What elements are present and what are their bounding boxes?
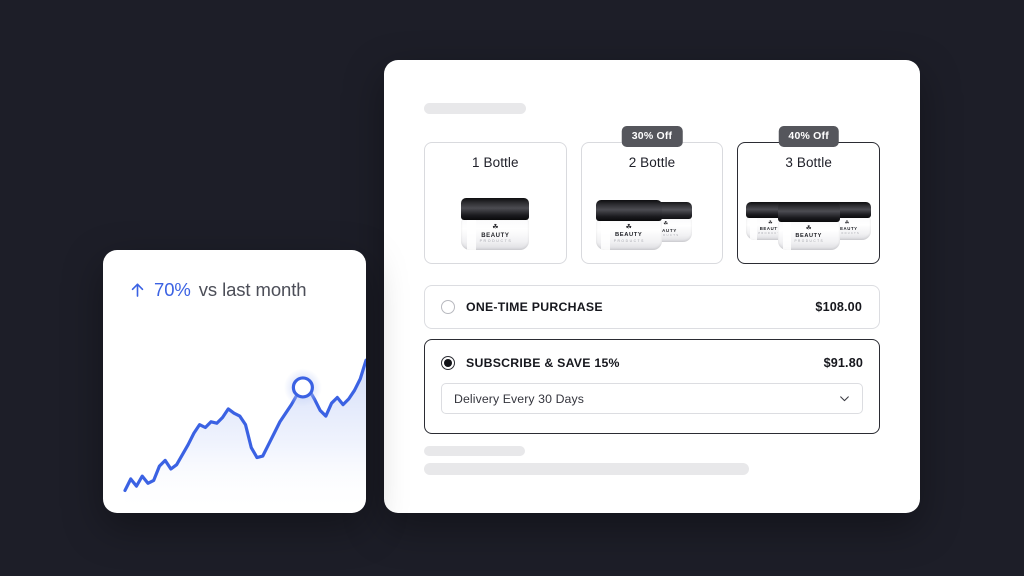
- bottle-option-2[interactable]: 30% Off 2 Bottle ☘ BEAUTY P R O D U C T …: [581, 142, 724, 264]
- purchase-option-label: ONE-TIME PURCHASE: [466, 300, 815, 314]
- bottle-option-title: 3 Bottle: [785, 155, 832, 170]
- delivery-frequency-select[interactable]: Delivery Every 30 Days: [441, 383, 863, 414]
- screen: 1 Bottle ☘ BEAUTY P R O D U C T S 30%: [0, 0, 1024, 576]
- radio-subscribe[interactable]: [441, 356, 455, 370]
- metric-value: 70%: [154, 279, 191, 301]
- chart-area-fill: [125, 360, 366, 513]
- chevron-down-icon: [838, 392, 851, 405]
- subscribe-header: SUBSCRIBE & SAVE 15% $91.80: [441, 340, 863, 383]
- radio-one-time[interactable]: [441, 300, 455, 314]
- data-point-marker[interactable]: [284, 368, 322, 406]
- chart-header: 70% vs last month: [129, 279, 306, 301]
- jar-image-3: ☘ BEAUTY P R O D U C T S ☘ BEAUTY P R O …: [738, 172, 879, 254]
- growth-chart-card: 70% vs last month: [103, 250, 366, 513]
- product-panel: 1 Bottle ☘ BEAUTY P R O D U C T S 30%: [384, 60, 920, 513]
- purchase-option-one-time[interactable]: ONE-TIME PURCHASE $108.00: [424, 285, 880, 329]
- jar-graphic: ☘ BEAUTY P R O D U C T S: [461, 198, 529, 250]
- footer-placeholder-short: [424, 446, 525, 456]
- discount-badge: 30% Off: [622, 126, 683, 147]
- purchase-option-label: SUBSCRIBE & SAVE 15%: [466, 356, 824, 370]
- arrow-up-icon: [129, 280, 146, 300]
- bottle-option-1[interactable]: 1 Bottle ☘ BEAUTY P R O D U C T S: [424, 142, 567, 264]
- footer-placeholder-long: [424, 463, 749, 475]
- title-placeholder: [424, 103, 526, 114]
- trend-line-chart: [103, 338, 366, 513]
- jar-image-2: ☘ BEAUTY P R O D U C T S ☘ BEAUTY P R O …: [582, 172, 723, 254]
- bottle-option-title: 1 Bottle: [472, 155, 519, 170]
- purchase-option-subscribe[interactable]: SUBSCRIBE & SAVE 15% $91.80 Delivery Eve…: [424, 339, 880, 434]
- bottle-option-group: 1 Bottle ☘ BEAUTY P R O D U C T S 30%: [424, 142, 880, 264]
- jar-graphic: ☘ BEAUTY P R O D U C T S: [596, 200, 662, 250]
- bottle-option-title: 2 Bottle: [629, 155, 676, 170]
- jar-graphic: ☘ BEAUTY P R O D U C T S: [778, 202, 840, 250]
- purchase-option-price: $108.00: [815, 300, 862, 314]
- bottle-option-3[interactable]: 40% Off 3 Bottle ☘ BEAUTY P R O D U C T …: [737, 142, 880, 264]
- metric-caption: vs last month: [199, 279, 307, 301]
- delivery-frequency-value: Delivery Every 30 Days: [454, 392, 838, 406]
- purchase-option-price: $91.80: [824, 356, 863, 370]
- discount-badge: 40% Off: [778, 126, 839, 147]
- jar-image-1: ☘ BEAUTY P R O D U C T S: [425, 172, 566, 254]
